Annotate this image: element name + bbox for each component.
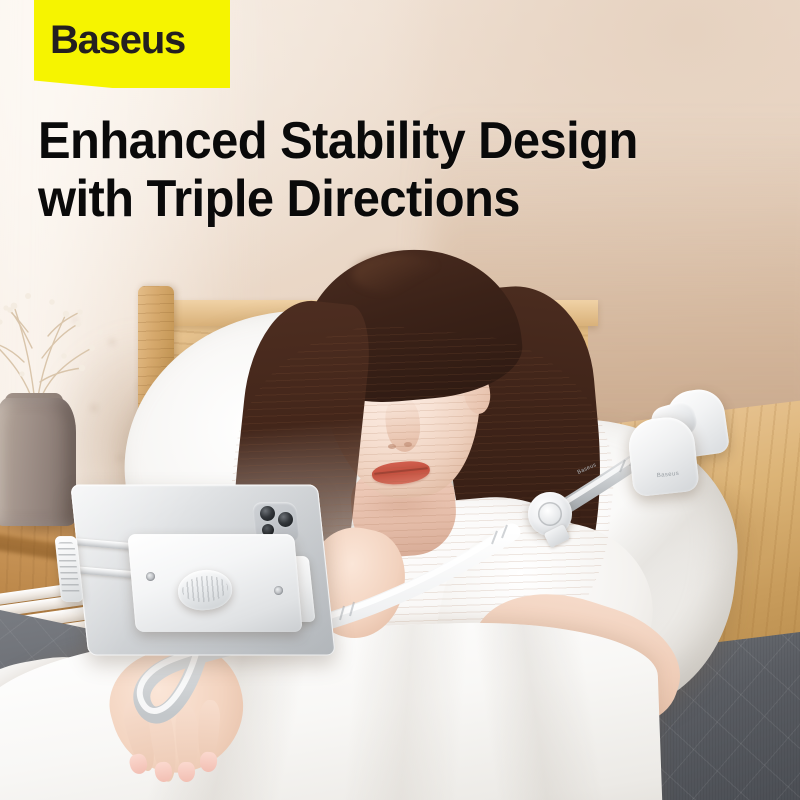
tube-brand-label: Baseus: [570, 459, 604, 478]
headline: Enhanced Stability Design with Triple Di…: [38, 112, 638, 228]
camera-lens: [260, 506, 275, 521]
headline-line-2: with Triple Directions: [38, 170, 638, 228]
headboard-clamp-front: [626, 415, 700, 497]
product-banner: Baseus Baseus Baseus Enhanced Stability …: [0, 0, 800, 800]
brand-logo-text: Baseus: [50, 20, 185, 60]
headline-line-1: Enhanced Stability Design: [38, 112, 638, 170]
pivot-joint-cap: [538, 502, 562, 526]
camera-lens: [278, 512, 293, 527]
